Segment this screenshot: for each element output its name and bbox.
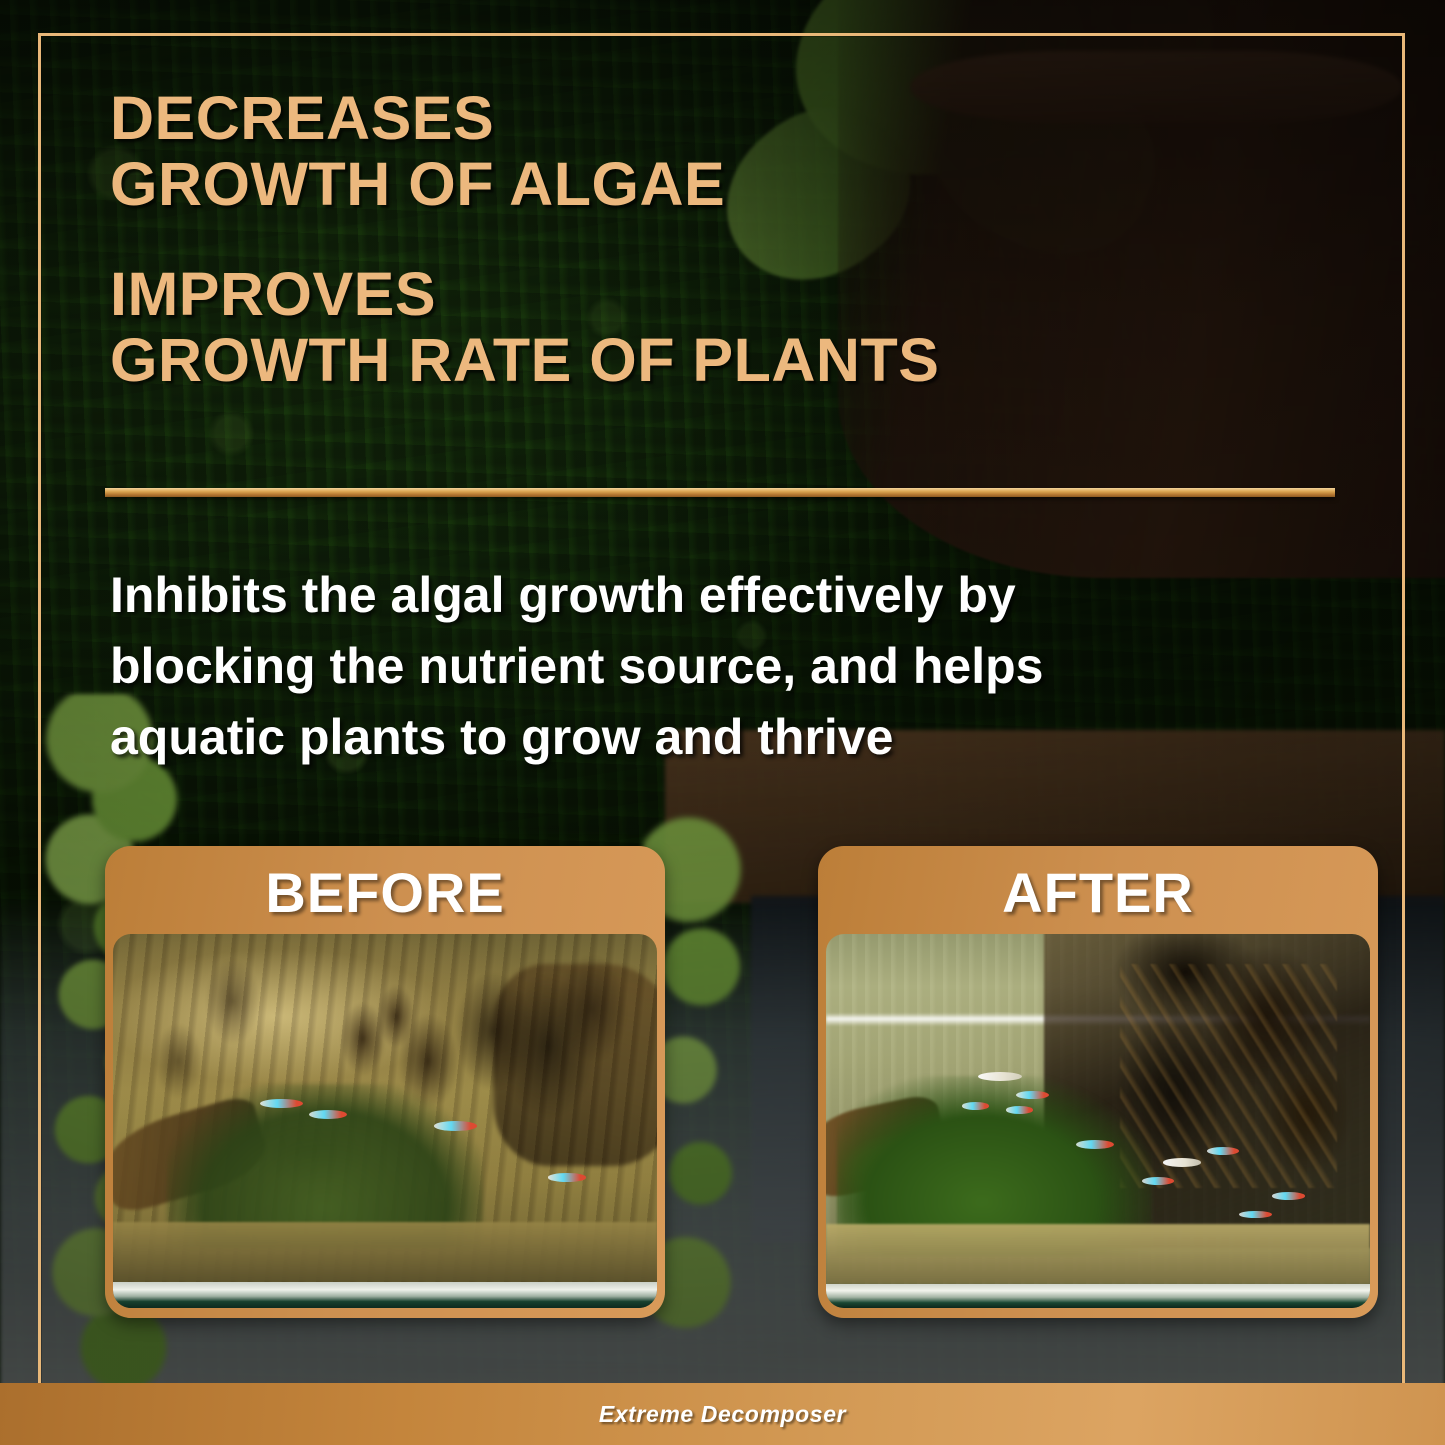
before-after-comparison: BEFORE AFTER [0, 846, 1445, 1326]
before-tank-rim [113, 1282, 657, 1308]
headline-line: GROWTH RATE OF PLANTS [110, 328, 1110, 394]
gold-divider-rule [105, 488, 1335, 497]
after-card: AFTER [818, 846, 1378, 1318]
headline-group: DECREASES GROWTH OF ALGAE IMPROVES GROWT… [110, 86, 1110, 394]
before-card: BEFORE [105, 846, 665, 1318]
headline-line: GROWTH OF ALGAE [110, 152, 1110, 218]
fish [434, 1121, 478, 1131]
fish [309, 1110, 347, 1119]
fish [548, 1173, 586, 1181]
body-copy-line: Inhibits the algal growth effectively by [110, 560, 1310, 631]
before-label: BEFORE [105, 860, 665, 925]
after-photo [826, 934, 1370, 1308]
headline-block-improves: IMPROVES GROWTH RATE OF PLANTS [110, 262, 1110, 394]
fish [1076, 1140, 1114, 1149]
headline-line: DECREASES [110, 86, 1110, 152]
fish [1272, 1192, 1305, 1199]
fish [1163, 1158, 1201, 1167]
headline-block-decreases: DECREASES GROWTH OF ALGAE [110, 86, 1110, 218]
before-gravel [113, 1222, 657, 1282]
body-copy: Inhibits the algal growth effectively by… [110, 560, 1310, 773]
fish [962, 1102, 989, 1109]
product-infographic-poster: DECREASES GROWTH OF ALGAE IMPROVES GROWT… [0, 0, 1445, 1445]
after-label: AFTER [818, 860, 1378, 925]
headline-spacer [110, 218, 1110, 262]
fish [1142, 1177, 1175, 1185]
before-photo [113, 934, 657, 1308]
after-tank-rim [826, 1284, 1370, 1308]
body-copy-line: aquatic plants to grow and thrive [110, 702, 1310, 773]
brand-name: Extreme Decomposer [599, 1401, 846, 1428]
body-copy-line: blocking the nutrient source, and helps [110, 631, 1310, 702]
headline-line: IMPROVES [110, 262, 1110, 328]
footer-bar: Extreme Decomposer [0, 1383, 1445, 1445]
fish [1006, 1106, 1033, 1113]
after-sand-substrate [826, 1224, 1370, 1284]
